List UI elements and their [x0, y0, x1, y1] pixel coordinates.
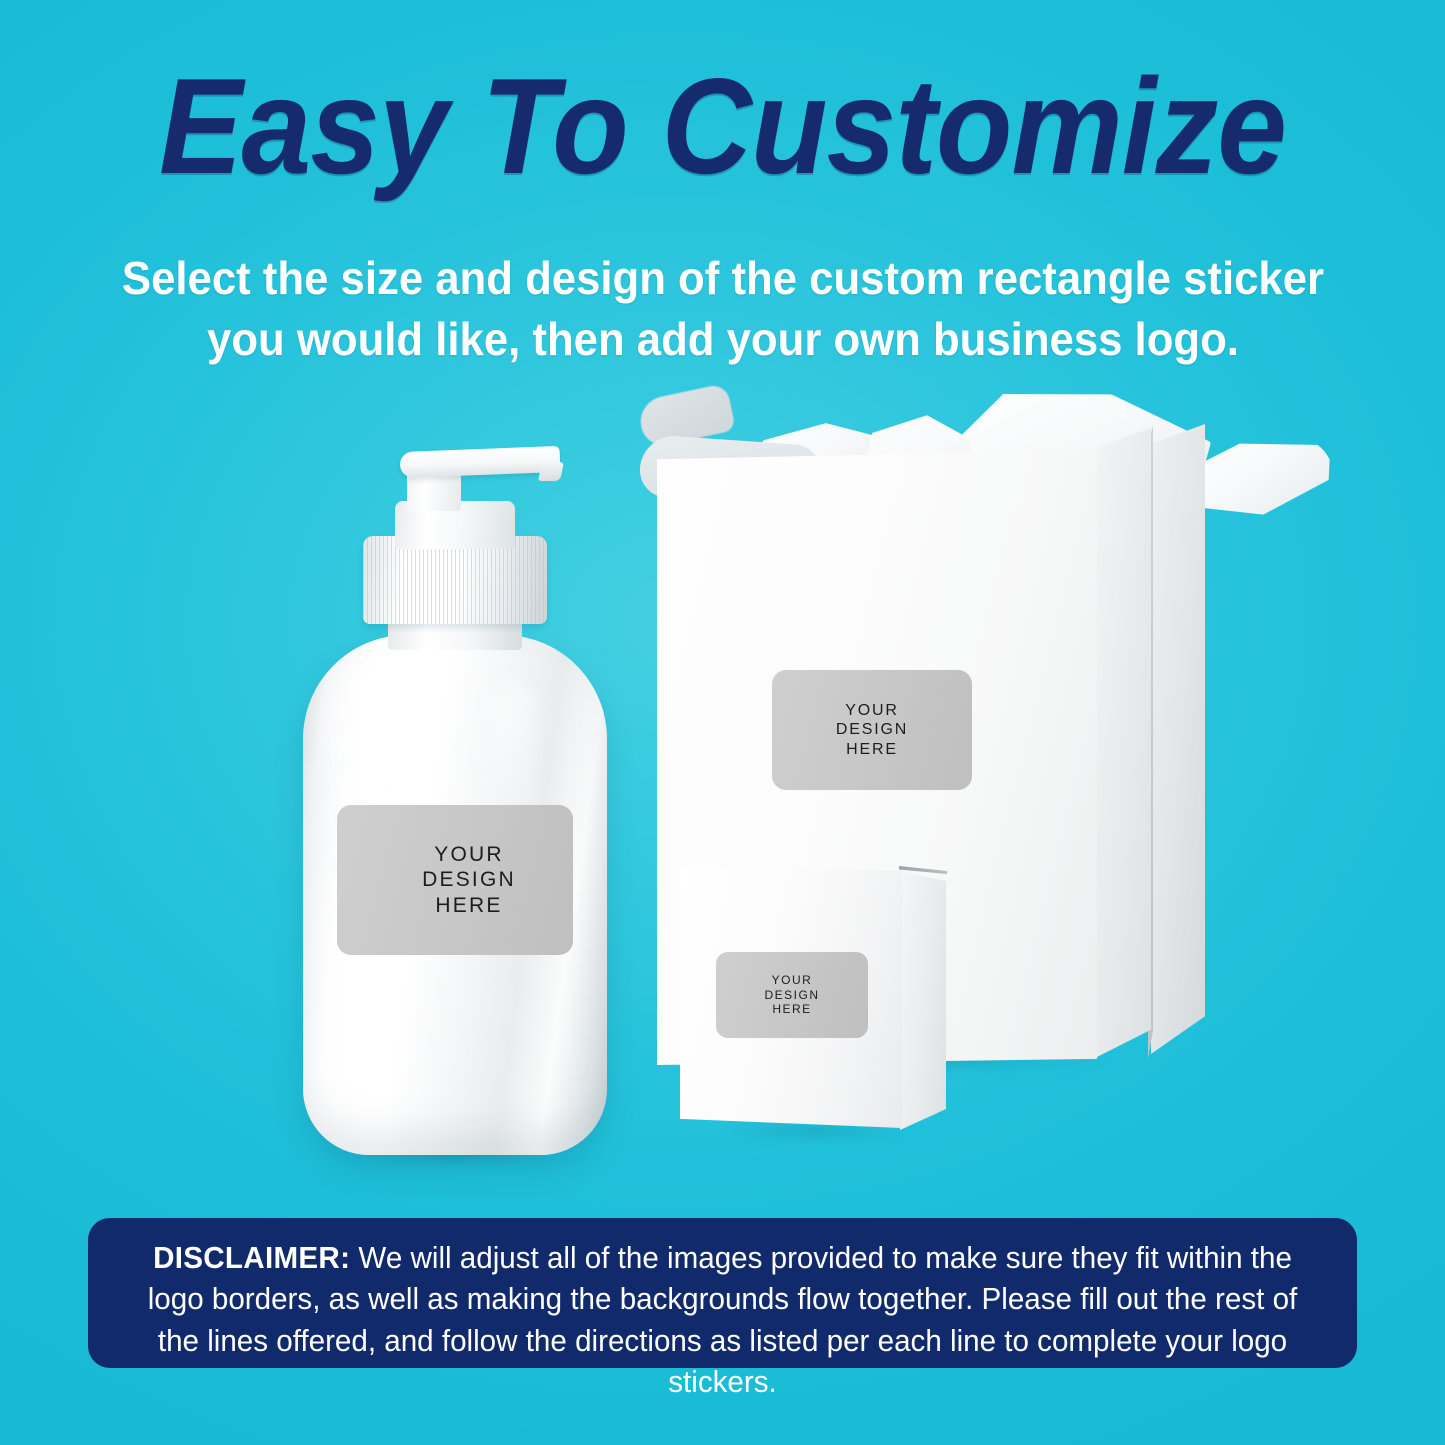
bottle-pump-collar: [363, 536, 547, 624]
giftbox-side-panel-far: [1151, 424, 1205, 1054]
sticker-line-2: DESIGN: [836, 720, 908, 740]
sticker-line-3: HERE: [422, 893, 516, 919]
sticker-label-giftbox: YOUR DESIGN HERE: [772, 670, 972, 790]
page-title: Easy To Customize: [58, 58, 1387, 194]
giftbox-side-panel-near: [1095, 428, 1151, 1058]
subtitle-text: Select the size and design of the custom…: [110, 248, 1336, 370]
sticker-line-2: DESIGN: [764, 988, 819, 1003]
bottle-pump-nozzle: [400, 446, 561, 478]
sticker-line-1: YOUR: [836, 701, 908, 721]
sticker-line-3: HERE: [836, 740, 908, 760]
sticker-line-1: YOUR: [422, 842, 516, 868]
sticker-label-bottle: YOUR DESIGN HERE: [337, 805, 573, 955]
disclaimer-panel: DISCLAIMER: We will adjust all of the im…: [88, 1218, 1357, 1368]
product-small-box: YOUR DESIGN HERE: [680, 848, 970, 1148]
promo-banner: Easy To Customize Select the size and de…: [0, 0, 1445, 1445]
sticker-line-3: HERE: [764, 1002, 819, 1017]
bottle-pump-nozzle-tip: [538, 462, 564, 481]
sticker-line-1: YOUR: [764, 973, 819, 988]
disclaimer-label: DISCLAIMER:: [153, 1241, 350, 1275]
sticker-line-2: DESIGN: [422, 867, 516, 893]
disclaimer-text: DISCLAIMER: We will adjust all of the im…: [142, 1238, 1303, 1404]
sticker-label-smallbox: YOUR DESIGN HERE: [716, 952, 868, 1038]
product-pump-bottle: YOUR DESIGN HERE: [295, 435, 615, 1165]
smallbox-side-panel: [900, 868, 946, 1130]
